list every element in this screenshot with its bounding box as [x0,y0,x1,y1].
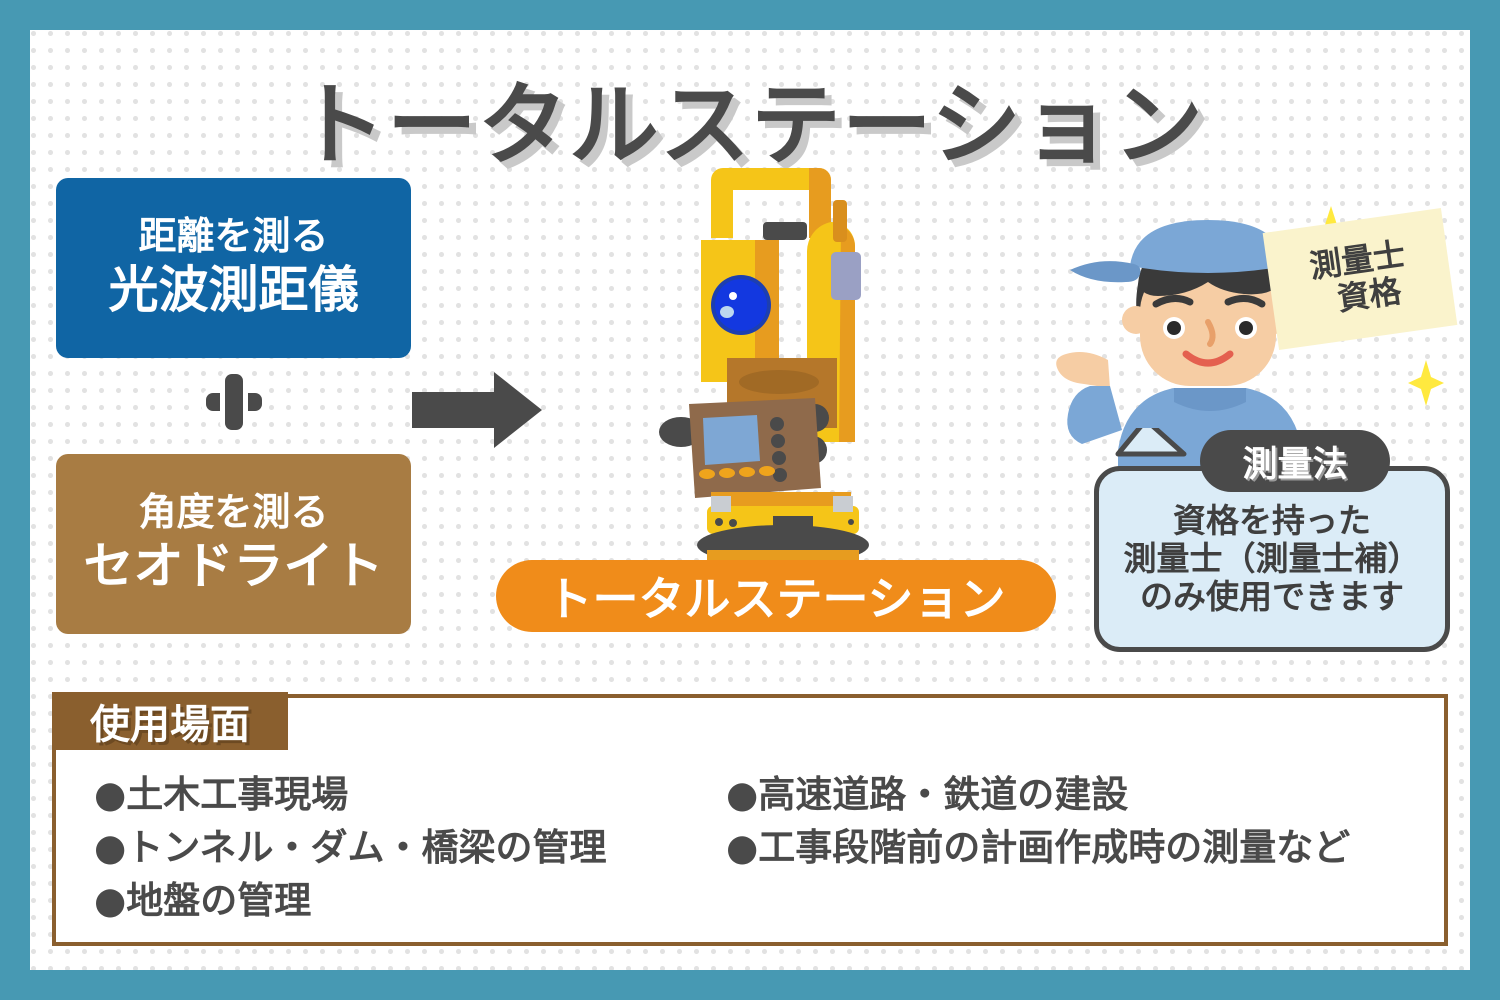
right-arrow-icon [412,370,542,450]
angle-box-name: セオドライト [84,538,384,596]
distance-box-name: 光波測距儀 [109,262,359,320]
speech-bubble: 資格を持った 測量士（測量士補） のみ使用できます 測量法 [1088,428,1468,660]
angle-box-caption: 角度を測る [138,492,328,534]
note-line-2: 資格 [1335,274,1403,318]
qualification-note: 測量士 資格 [1263,208,1458,350]
list-item: ●高速道路・鉄道の建設 [726,772,1426,817]
list-item: ●工事段階前の計画作成時の測量など [726,825,1426,870]
usage-columns: ●土木工事現場 ●トンネル・ダム・橋梁の管理 ●地盤の管理 ●高速道路・鉄道の建… [52,772,1448,952]
usage-left-column: ●土木工事現場 ●トンネル・ダム・橋梁の管理 ●地盤の管理 [94,772,714,952]
distance-measure-box: 距離を測る 光波測距儀 [56,178,411,358]
plus-icon [206,374,262,430]
list-item: ●土木工事現場 [94,772,714,817]
bubble-line-2: 測量士（測量士補） [1124,540,1421,578]
outer-frame: トータルステーション 距離を測る 光波測距儀 角度を測る セオドライト [0,0,1500,1000]
angle-measure-box: 角度を測る セオドライト [56,454,411,634]
law-badge: 測量法 [1200,430,1390,492]
plus-vertical-bar [225,374,243,430]
distance-box-caption: 距離を測る [138,216,328,258]
bubble-body: 資格を持った 測量士（測量士補） のみ使用できます [1094,466,1450,652]
bubble-line-1: 資格を持った [1173,502,1371,540]
list-item: ●トンネル・ダム・橋梁の管理 [94,825,714,870]
usage-header-tab: 使用場面 [52,692,288,750]
total-station-icon [645,160,935,580]
usage-right-column: ●高速道路・鉄道の建設 ●工事段階前の計画作成時の測量など [726,772,1426,952]
bubble-line-3: のみ使用できます [1140,578,1404,616]
result-label-pill: トータルステーション [496,560,1056,632]
list-item: ●地盤の管理 [94,878,714,923]
sparkle-icon-bottom [1408,360,1444,406]
infographic-canvas: トータルステーション 距離を測る 光波測距儀 角度を測る セオドライト [30,30,1470,970]
